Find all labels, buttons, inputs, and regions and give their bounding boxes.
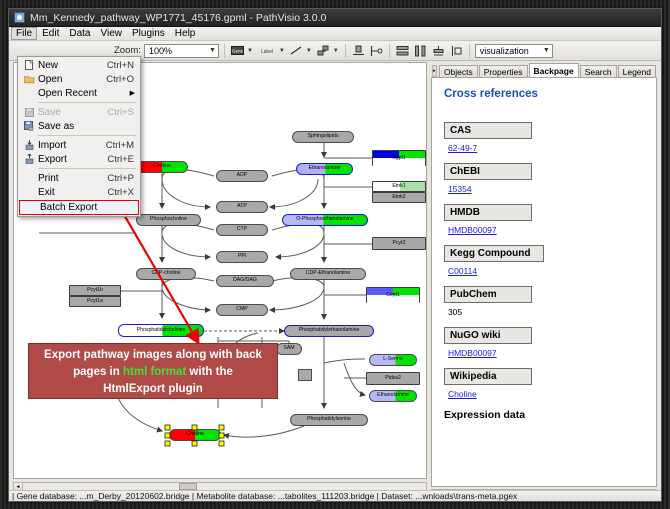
- tab-backpage[interactable]: Backpage: [529, 63, 579, 78]
- visualization-value: visualization: [480, 46, 529, 56]
- xref-link-cas[interactable]: 62-49-7: [448, 143, 644, 153]
- pathvisio-app-icon: [14, 12, 25, 23]
- node-ethanolamine-2[interactable]: Ethanolamine: [369, 390, 417, 402]
- callout-line-2-post: with the: [186, 366, 233, 378]
- gene-box-ptdss2[interactable]: Ptdss2: [366, 372, 420, 385]
- line-icon[interactable]: [289, 43, 304, 58]
- gene-box-pcyt1a[interactable]: Pcyt1a: [69, 296, 121, 307]
- zoom-combo[interactable]: 100% ▼: [144, 44, 219, 58]
- node-phosphatidylserine[interactable]: Phosphatidylserine: [290, 414, 368, 426]
- menu-item-exit[interactable]: Exit Ctrl+X: [18, 185, 140, 199]
- new-file-icon: [20, 60, 38, 70]
- node-l-serine[interactable]: L-Serine: [369, 354, 417, 366]
- menu-file[interactable]: File: [11, 27, 37, 40]
- open-folder-icon: [20, 75, 38, 84]
- node-phosphocholine[interactable]: Phosphocholine: [136, 214, 201, 226]
- submenu-arrow-icon: ▶: [130, 89, 140, 97]
- backpage-content: Cross references CAS 62-49-7 ChEBI 15354…: [431, 77, 657, 487]
- toolbar-separator: [224, 44, 225, 58]
- node-choline[interactable]: Choline: [136, 161, 188, 173]
- xref-source-chebi: ChEBI: [444, 163, 532, 180]
- node-ethanolamine[interactable]: Ethanolamine: [296, 163, 353, 175]
- node-phosphatidylcholines[interactable]: Phosphatidylcholines: [118, 324, 204, 337]
- menu-data[interactable]: Data: [64, 27, 95, 40]
- side-panel: ▸ Objects Properties Backpage Search Leg…: [429, 62, 661, 501]
- gene-box-etnk1[interactable]: Etnk1: [372, 181, 426, 192]
- save-disk-icon: [20, 108, 38, 117]
- same-height-icon[interactable]: [449, 43, 464, 58]
- cross-references-heading: Cross references: [444, 88, 644, 100]
- menu-plugins[interactable]: Plugins: [127, 27, 170, 40]
- scroll-thumb[interactable]: [179, 483, 197, 490]
- title-bar: Mm_Kennedy_pathway_WP1771_45176.gpml - P…: [9, 9, 661, 27]
- gene-box-cept1[interactable]: Cept1: [366, 287, 420, 303]
- menu-help[interactable]: Help: [170, 27, 201, 40]
- expression-data-heading: Expression data: [444, 409, 644, 421]
- xref-source-nugo-wiki: NuGO wiki: [444, 327, 532, 344]
- zoom-label: Zoom:: [114, 45, 141, 56]
- node-cmp[interactable]: CMP: [216, 304, 268, 316]
- export-icon: [20, 154, 38, 164]
- selection-handles[interactable]: [162, 423, 230, 449]
- chevron-down-icon[interactable]: ▼: [247, 48, 253, 54]
- menu-item-import[interactable]: Import Ctrl+M: [18, 138, 140, 152]
- gene-box-etnk2[interactable]: Etnk2: [372, 192, 426, 203]
- node-o-phosphoethanolamine[interactable]: O-Phosphoethanolamine: [282, 214, 368, 226]
- menu-bar: File Edit Data View Plugins Help: [9, 27, 661, 41]
- menu-item-save-as[interactable]: Save as: [18, 119, 140, 133]
- chevron-down-icon[interactable]: ▼: [279, 48, 285, 54]
- callout-line-2: pages in html format with the: [29, 364, 277, 381]
- chevron-down-icon: ▼: [543, 47, 550, 54]
- xref-link-wikipedia[interactable]: Choline: [448, 389, 644, 399]
- menu-view[interactable]: View: [95, 27, 127, 40]
- svg-text:Gene: Gene: [232, 49, 244, 54]
- callout-line-2-pre: pages in: [73, 366, 123, 378]
- distribute-vertical-icon[interactable]: [395, 43, 410, 58]
- save-as-icon: [20, 121, 38, 131]
- zoom-value: 100%: [149, 46, 172, 56]
- node-cdp-choline[interactable]: CDP-choline: [136, 268, 196, 280]
- menu-edit[interactable]: Edit: [37, 27, 64, 40]
- node-ppi[interactable]: PPi: [216, 251, 268, 263]
- xref-value-pubchem: 305: [448, 307, 644, 317]
- menu-item-new[interactable]: New Ctrl+N: [18, 58, 140, 72]
- tab-overflow-icon[interactable]: ▸: [432, 65, 437, 77]
- xref-link-nugo-wiki[interactable]: HMDB00097: [448, 348, 644, 358]
- status-bar-text: | Gene database: ...m_Derby_20120602.bri…: [12, 491, 517, 501]
- pathvisio-window: Mm_Kennedy_pathway_WP1771_45176.gpml - P…: [8, 8, 662, 502]
- xref-link-hmdb[interactable]: HMDB00097: [448, 225, 644, 235]
- same-width-icon[interactable]: [431, 43, 446, 58]
- menu-item-open[interactable]: Open Ctrl+O: [18, 72, 140, 86]
- annotation-callout: Export pathway images along with back pa…: [28, 343, 278, 399]
- chevron-down-icon[interactable]: ▼: [306, 48, 312, 54]
- node-sam[interactable]: SAM: [276, 343, 302, 355]
- xref-link-chebi[interactable]: 15354: [448, 184, 644, 194]
- xref-source-pubchem: PubChem: [444, 286, 532, 303]
- callout-line-3: HtmlExport plugin: [29, 381, 277, 398]
- node-dag[interactable]: DAG/DAG: [216, 275, 274, 287]
- interaction-anchor: [298, 369, 312, 381]
- file-menu-popup[interactable]: New Ctrl+N Open Ctrl+O Open Recent ▶ Sav…: [17, 56, 141, 217]
- menu-item-save: Save Ctrl+S: [18, 105, 140, 119]
- gene-box-sgpl1[interactable]: Sgpl1: [372, 150, 426, 166]
- window-title: Mm_Kennedy_pathway_WP1771_45176.gpml - P…: [30, 12, 326, 24]
- xref-source-cas: CAS: [444, 122, 532, 139]
- menu-item-batch-export[interactable]: Batch Export: [19, 200, 139, 215]
- toolbar-separator: [345, 44, 346, 58]
- gene-product-icon[interactable]: Gene: [230, 43, 245, 58]
- node-atp[interactable]: ATP: [216, 201, 268, 213]
- menu-item-open-recent[interactable]: Open Recent ▶: [18, 86, 140, 100]
- xref-source-kegg-compound: Kegg Compound: [444, 245, 544, 262]
- desktop-background: Mm_Kennedy_pathway_WP1771_45176.gpml - P…: [0, 0, 670, 509]
- node-cdp-ethanolamine[interactable]: CDP-Ethanolamine: [290, 268, 366, 280]
- xref-source-wikipedia: Wikipedia: [444, 368, 532, 385]
- visualization-combo[interactable]: visualization ▼: [475, 44, 553, 58]
- callout-highlight: html format: [123, 366, 186, 378]
- menu-separator: [38, 168, 136, 169]
- menu-separator: [38, 102, 136, 103]
- label-icon[interactable]: Label: [257, 43, 277, 58]
- import-icon: [20, 140, 38, 150]
- chevron-down-icon: ▼: [209, 47, 216, 54]
- xref-source-hmdb: HMDB: [444, 204, 532, 221]
- menu-item-print[interactable]: Print Ctrl+P: [18, 171, 140, 185]
- xref-link-kegg-compound[interactable]: C00114: [448, 266, 644, 276]
- align-left-icon[interactable]: [369, 43, 384, 58]
- toolbar-separator: [389, 44, 390, 58]
- align-top-icon[interactable]: [351, 43, 366, 58]
- node-adp[interactable]: ADP: [216, 170, 268, 182]
- status-bar: | Gene database: ...m_Derby_20120602.bri…: [9, 490, 661, 501]
- node-phosphatidylethanolamine[interactable]: Phosphatidylethanolamine: [284, 325, 374, 337]
- chevron-down-icon[interactable]: ▼: [333, 48, 339, 54]
- shape-icon[interactable]: [316, 43, 331, 58]
- node-sphingolipids[interactable]: Sphingolipids: [292, 131, 354, 143]
- gene-box-pcyt1b[interactable]: Pcyt1b: [69, 285, 121, 296]
- toolbar-separator: [469, 44, 470, 58]
- svg-text:Label: Label: [261, 49, 273, 55]
- menu-item-export[interactable]: Export Ctrl+E: [18, 152, 140, 166]
- gene-box-pcyt2[interactable]: Pcyt2: [372, 237, 426, 250]
- callout-line-1: Export pathway images along with back: [29, 347, 277, 364]
- distribute-horizontal-icon[interactable]: [413, 43, 428, 58]
- panel-tab-strip: ▸ Objects Properties Backpage Search Leg…: [431, 64, 657, 78]
- menu-separator: [38, 135, 136, 136]
- scroll-left-arrow-icon[interactable]: ◄: [14, 483, 23, 490]
- node-ctp[interactable]: CTP: [216, 224, 268, 236]
